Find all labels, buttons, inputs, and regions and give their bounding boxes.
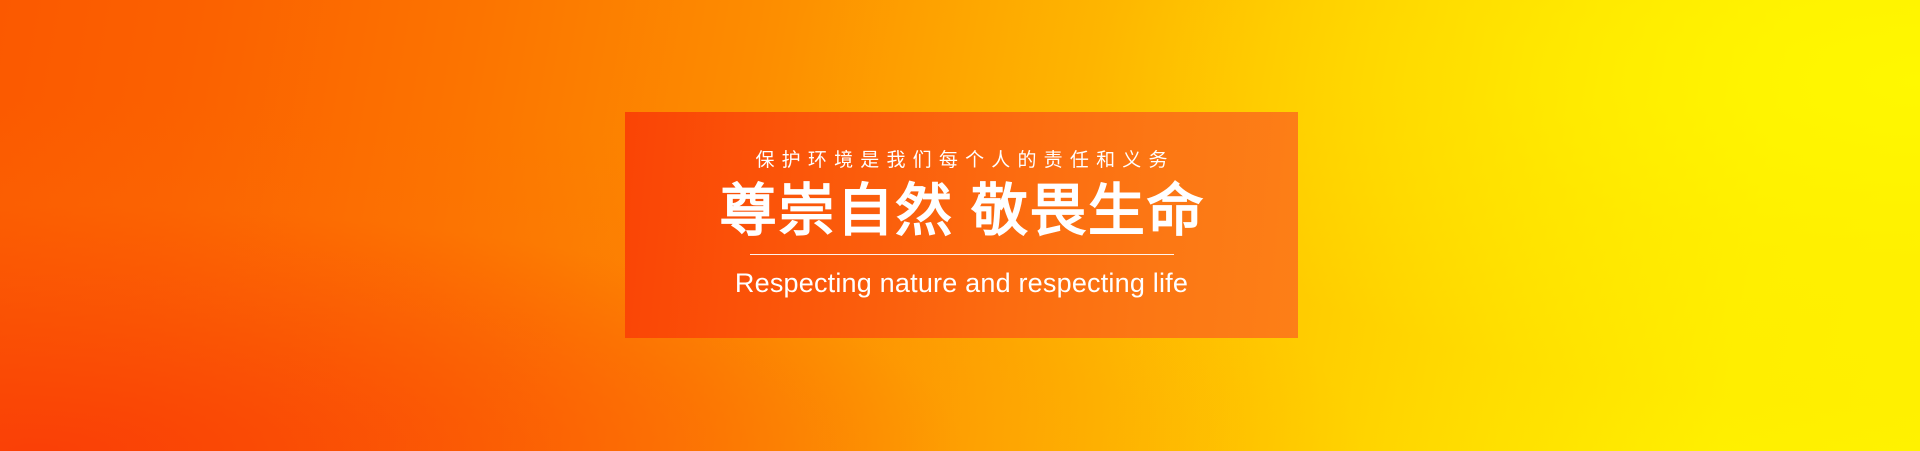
card-headline: 尊崇自然 敬畏生命 [718,181,1205,243]
message-card: 保护环境是我们每个人的责任和义务 尊崇自然 敬畏生命 Respecting na… [625,112,1298,338]
card-divider [750,254,1174,255]
card-subtitle: 保护环境是我们每个人的责任和义务 [748,151,1174,172]
card-english-tagline: Respecting nature and respecting life [735,268,1188,299]
banner-root: 保护环境是我们每个人的责任和义务 尊崇自然 敬畏生命 Respecting na… [0,0,1920,451]
message-card-content: 保护环境是我们每个人的责任和义务 尊崇自然 敬畏生命 Respecting na… [659,151,1264,299]
